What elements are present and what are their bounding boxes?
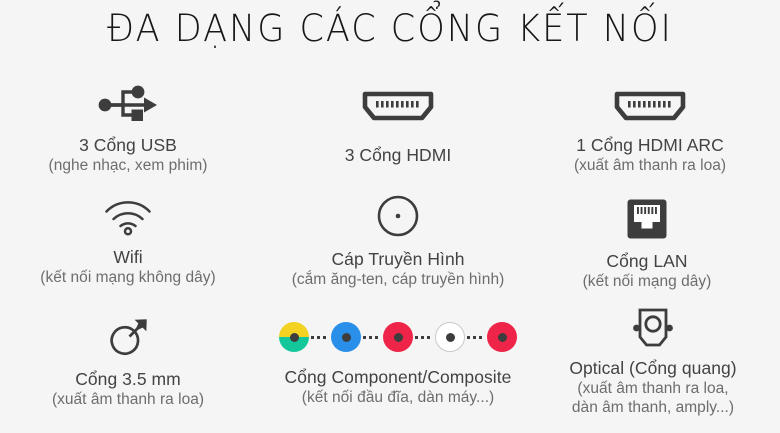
feature-sublabel: (cắm ăng-ten, cáp truyền hình) xyxy=(258,270,538,289)
optical-toslink-icon xyxy=(534,305,772,353)
rca-connector-component-red xyxy=(383,322,413,352)
connectivity-infographic: ĐA DẠNG CÁC CỔNG KẾT NỐI 3 Cổng USB (ngh… xyxy=(0,0,780,433)
feature-item-hdmi: 3 Cổng HDMI xyxy=(270,78,526,166)
feature-item-usb: 3 Cổng USB (nghe nhạc, xem phim) xyxy=(8,78,248,175)
feature-item-coaxial: Cáp Truyền Hình (cắm ăng-ten, cáp truyền… xyxy=(258,192,538,289)
rca-connector-composite-white xyxy=(435,322,465,352)
usb-icon xyxy=(8,78,248,122)
feature-label: Cáp Truyền Hình xyxy=(258,248,538,270)
feature-item-wifi: Wifi (kết nối mạng không dây) xyxy=(8,196,248,287)
cable-dots xyxy=(467,336,485,339)
rca-component-composite-icon xyxy=(250,320,546,354)
feature-label: Wifi xyxy=(8,246,248,268)
feature-label: 3 Cổng USB xyxy=(8,134,248,156)
wifi-icon xyxy=(8,196,248,236)
lan-rj45-icon xyxy=(528,194,766,240)
feature-item-audio-jack: Cổng 3.5 mm (xuất âm thanh ra loa) xyxy=(8,313,248,409)
feature-item-optical: Optical (Cổng quang) (xuất âm thanh ra l… xyxy=(534,305,772,417)
feature-sublabel: (xuất âm thanh ra loa) xyxy=(528,156,772,175)
feature-item-component-composite: Cổng Component/Composite (kết nối đầu đĩ… xyxy=(250,320,546,407)
feature-label: Cổng Component/Composite xyxy=(250,366,546,388)
feature-item-lan: Cổng LAN (kết nối mạng dây) xyxy=(528,194,766,291)
hdmi-arc-port-icon xyxy=(528,78,772,122)
feature-sublabel: (nghe nhạc, xem phim) xyxy=(8,156,248,175)
feature-sublabel: (kết nối mạng không dây) xyxy=(8,268,248,287)
feature-label: 3 Cổng HDMI xyxy=(270,144,526,166)
coaxial-antenna-icon xyxy=(258,192,538,238)
feature-label: Cổng 3.5 mm xyxy=(8,368,248,390)
rca-connector-component-yellow-green xyxy=(279,322,309,352)
rca-connector-composite-red xyxy=(487,322,517,352)
page-title: ĐA DẠNG CÁC CỔNG KẾT NỐI xyxy=(0,8,780,50)
feature-label: Optical (Cổng quang) xyxy=(534,357,772,379)
feature-item-hdmi-arc: 1 Cổng HDMI ARC (xuất âm thanh ra loa) xyxy=(528,78,772,175)
feature-label: 1 Cổng HDMI ARC xyxy=(528,134,772,156)
feature-sublabel: (xuất âm thanh ra loa) xyxy=(8,390,248,409)
feature-label: Cổng LAN xyxy=(528,250,766,272)
feature-sublabel-line1: (xuất âm thanh ra loa, xyxy=(534,379,772,398)
hdmi-port-icon xyxy=(270,78,526,122)
feature-sublabel: (kết nối đầu đĩa, dàn máy...) xyxy=(250,388,546,407)
cable-dots xyxy=(415,336,433,339)
cable-dots xyxy=(363,336,381,339)
feature-sublabel-line2: dàn âm thanh, amply...) xyxy=(534,398,772,417)
cable-dots xyxy=(311,336,329,339)
rca-connector-component-blue xyxy=(331,322,361,352)
feature-sublabel: (kết nối mạng dây) xyxy=(528,272,766,291)
audio-jack-arrow-icon xyxy=(8,313,248,361)
